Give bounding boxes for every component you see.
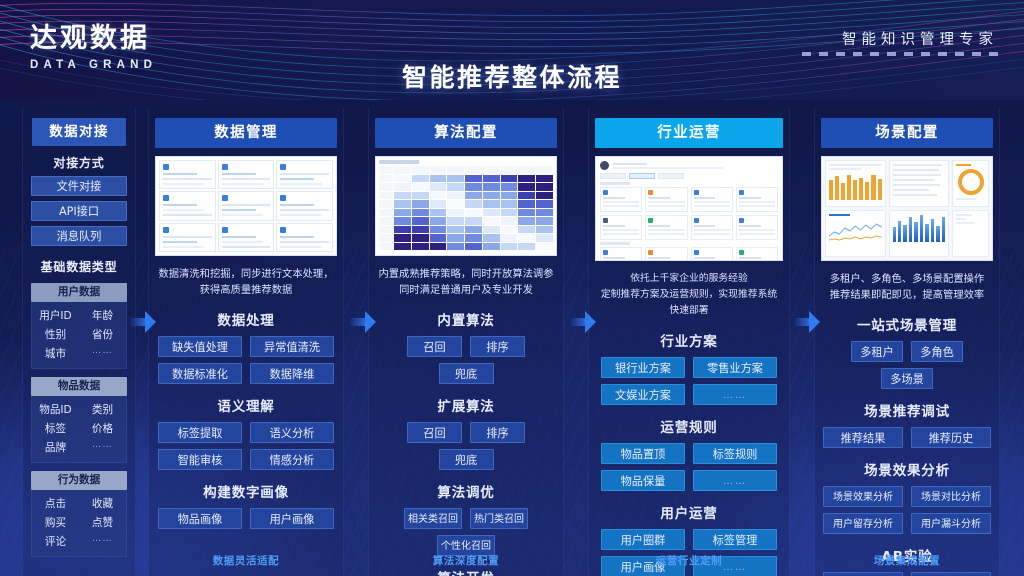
chip-fallback-builtin[interactable]: 兜底: [439, 363, 494, 384]
column-description-data-management: 数据清洗和挖掘，同步进行文本处理， 获得高质量推荐数据: [149, 266, 343, 298]
field-more-user: ……: [79, 346, 126, 361]
field-list-item-data: 物品ID 类别 标签 价格 品牌 ……: [31, 396, 127, 463]
chip-api[interactable]: API接口: [31, 201, 127, 221]
chip-item-profile[interactable]: 物品画像: [158, 508, 242, 529]
chip-rank-builtin[interactable]: 排序: [470, 336, 525, 357]
column-header-data-management: 数据管理: [155, 118, 337, 148]
section-label-algo-tuning: 算法调优: [369, 481, 563, 501]
column-algorithm-config[interactable]: 算法配置 内置成熟推荐策略，同时开放算法调参 同时满足普通用户及专业开发 内置算…: [368, 108, 564, 576]
chip-bank-solution[interactable]: 银行业方案: [601, 357, 685, 378]
field-favorite: 收藏: [79, 496, 126, 511]
field-more-item: ……: [79, 440, 126, 455]
chip-hot-recall[interactable]: 热门类召回: [470, 508, 528, 529]
chip-multi-role[interactable]: 多角色: [911, 341, 963, 362]
chip-retail-solution[interactable]: 零售业方案: [693, 357, 777, 378]
chip-sentiment[interactable]: 情感分析: [250, 449, 334, 470]
chip-group-profile: 物品画像 用户画像: [149, 508, 343, 529]
chip-scene-compare-analysis[interactable]: 场景对比分析: [911, 486, 991, 507]
chip-standardize[interactable]: 数据标准化: [158, 363, 242, 384]
field-like: 点赞: [79, 515, 126, 530]
column-header-industry-operation: 行业运营: [595, 118, 783, 148]
field-item-id: 物品ID: [32, 402, 79, 417]
header-tagline: 智能知识管理专家: [802, 28, 998, 56]
column-header-data-integration: 数据对接: [32, 118, 126, 146]
column-description-algorithm-config: 内置成熟推荐策略，同时开放算法调参 同时满足普通用户及专业开发: [369, 266, 563, 298]
chip-tag-extract[interactable]: 标签提取: [158, 422, 242, 443]
chip-fallback-extend[interactable]: 兜底: [439, 449, 494, 470]
thumb-card-grid: [156, 157, 336, 255]
chip-item-pin[interactable]: 物品置顶: [601, 443, 685, 464]
brand-name-cn: 达观数据: [30, 16, 157, 55]
field-brand: 品牌: [32, 440, 79, 455]
chip-more-industry-solution[interactable]: ……: [693, 384, 777, 405]
chip-rank-extend[interactable]: 排序: [470, 422, 525, 443]
field-list-behavior-data: 点击 收藏 购买 点赞 评论 ……: [31, 490, 127, 557]
section-label-data-processing: 数据处理: [149, 309, 343, 329]
chip-group-industry-solution: 银行业方案 零售业方案 文娱业方案 ……: [589, 357, 789, 405]
field-list-user-data: 用户ID 年龄 性别 省份 城市 ……: [31, 302, 127, 369]
header-tagline-text: 智能知识管理专家: [802, 28, 998, 49]
chip-recommend-result[interactable]: 推荐结果: [823, 427, 903, 448]
chip-entertainment-solution[interactable]: 文娱业方案: [601, 384, 685, 405]
chip-recall-extend[interactable]: 召回: [407, 422, 462, 443]
field-age: 年龄: [79, 308, 126, 323]
arrow-2: [350, 311, 376, 333]
section-label-operation-rules: 运营规则: [589, 416, 789, 436]
chip-recommend-history[interactable]: 推荐历史: [911, 427, 991, 448]
chip-tag-management[interactable]: 标签管理: [693, 529, 777, 550]
chip-more-operation-rules[interactable]: ……: [693, 470, 777, 491]
chip-file-connect[interactable]: 文件对接: [31, 176, 127, 196]
chip-group-data-processing: 缺失值处理 异常值清洗 数据标准化 数据降维: [149, 336, 343, 384]
line-chart-sparkline: [829, 218, 882, 244]
thumb-heatmap: [376, 157, 556, 255]
chip-multi-tenant[interactable]: 多租户: [851, 341, 903, 362]
chip-semantic-analysis[interactable]: 语义分析: [250, 422, 334, 443]
page-title: 智能推荐整体流程: [0, 58, 1024, 94]
thumb-industry-cards: [596, 157, 782, 260]
chip-group-semantic: 标签提取 语义分析 智能审核 情感分析: [149, 422, 343, 470]
screenshot-thumbnail-algorithm-config[interactable]: [375, 156, 557, 256]
chip-group-builtin-algo: 召回 排序 兜底: [369, 336, 563, 384]
chip-message-queue[interactable]: 消息队列: [31, 226, 127, 246]
section-label-industry-solution: 行业方案: [589, 330, 789, 350]
field-purchase: 购买: [32, 515, 79, 530]
field-tag: 标签: [32, 421, 79, 436]
heatmap-grid: [379, 166, 553, 250]
column-industry-operation[interactable]: 行业运营: [588, 108, 790, 576]
chip-user-funnel-analysis[interactable]: 用户漏斗分析: [911, 513, 991, 534]
chip-group-scene-debug: 推荐结果 推荐历史: [815, 427, 999, 448]
column-data-management[interactable]: 数据管理 数据清洗和挖掘，同步进行文本处理， 获得高质量推荐数据 数据处理 缺: [148, 108, 344, 576]
chip-outlier-clean[interactable]: 异常值清洗: [250, 336, 334, 357]
chip-item-quota[interactable]: 物品保量: [601, 470, 685, 491]
field-price: 价格: [79, 421, 126, 436]
field-gender: 性别: [32, 327, 79, 342]
column-footer-data-management: 数据灵活适配: [149, 553, 343, 568]
section-label-algo-dev: 算法开发: [369, 567, 563, 576]
group-header-user-data[interactable]: 用户数据: [31, 283, 127, 302]
column-footer-industry-operation: 运营行业定制: [589, 553, 789, 568]
column-data-integration[interactable]: 数据对接 对接方式 文件对接 API接口 消息队列 基础数据类型 用户数据 用户…: [22, 108, 136, 576]
arrow-4: [794, 311, 820, 333]
group-header-item-data[interactable]: 物品数据: [31, 377, 127, 396]
section-label-base-data-types: 基础数据类型: [23, 258, 135, 275]
arrow-1: [130, 311, 156, 333]
column-footer-algorithm-config: 算法深度配置: [369, 553, 563, 568]
chip-user-retention-analysis[interactable]: 用户留存分析: [823, 513, 903, 534]
chip-experiment-report[interactable]: 实验报告: [911, 572, 991, 576]
chip-smart-review[interactable]: 智能审核: [158, 449, 242, 470]
field-city: 城市: [32, 346, 79, 361]
screenshot-thumbnail-scene-config[interactable]: [821, 156, 993, 261]
tagline-dash-rule: [802, 52, 998, 56]
screenshot-thumbnail-industry-operation[interactable]: [595, 156, 783, 261]
chip-group-scene-effect: 场景效果分析 场景对比分析 用户留存分析 用户漏斗分析: [815, 486, 999, 534]
column-header-scene-config: 场景配置: [821, 118, 993, 148]
section-label-extend-algo: 扩展算法: [369, 395, 563, 415]
chip-recall-builtin[interactable]: 召回: [407, 336, 462, 357]
chip-user-group[interactable]: 用户圈群: [601, 529, 685, 550]
section-label-profile: 构建数字画像: [149, 481, 343, 501]
column-description-industry-operation: 依托上千家企业的服务经验 定制推荐方案及运营规则，实现推荐系统快速部署: [589, 271, 789, 319]
field-click: 点击: [32, 496, 79, 511]
column-footer-scene-config: 场景集成配置: [815, 553, 999, 568]
field-province: 省份: [79, 327, 126, 342]
field-more-behavior: ……: [79, 534, 126, 549]
chip-user-profile[interactable]: 用户画像: [250, 508, 334, 529]
chip-group-ab-test: 实验分群 实验报告: [815, 572, 999, 576]
group-header-behavior-data[interactable]: 行为数据: [31, 471, 127, 490]
chip-group-scene-management: 多租户 多角色 多场景: [815, 341, 999, 389]
chip-experiment-group[interactable]: 实验分群: [823, 572, 903, 576]
chip-group-extend-algo: 召回 排序 兜底: [369, 422, 563, 470]
chip-missing-value[interactable]: 缺失值处理: [158, 336, 242, 357]
chip-dim-reduction[interactable]: 数据降维: [250, 363, 334, 384]
chip-group-algo-tuning: 相关类召回 热门类召回 个性化召回: [369, 508, 563, 556]
chip-group-operation-rules: 物品置顶 标签规则 物品保量 ……: [589, 443, 789, 491]
chip-group-connect-method: 文件对接 API接口 消息队列: [23, 176, 135, 246]
chip-related-recall[interactable]: 相关类召回: [404, 508, 462, 529]
section-label-scene-effect: 场景效果分析: [815, 459, 999, 479]
field-category: 类别: [79, 402, 126, 417]
section-label-user-operation: 用户运营: [589, 502, 789, 522]
chip-multi-scene[interactable]: 多场景: [881, 368, 933, 389]
pipeline-columns: 数据对接 对接方式 文件对接 API接口 消息队列 基础数据类型 用户数据 用户…: [0, 108, 1024, 576]
arrow-3: [570, 311, 596, 333]
section-label-scene-debug: 场景推荐调试: [815, 400, 999, 420]
field-user-id: 用户ID: [32, 308, 79, 323]
slide-canvas: 达观数据 DATA GRAND 智能知识管理专家 智能推荐整体流程 数据对接 对…: [0, 0, 1024, 576]
column-scene-config[interactable]: 场景配置: [814, 108, 1000, 576]
chip-scene-effect-analysis[interactable]: 场景效果分析: [823, 486, 903, 507]
section-label-scene-management: 一站式场景管理: [815, 314, 999, 334]
column-header-algorithm-config: 算法配置: [375, 118, 557, 148]
section-label-builtin-algo: 内置算法: [369, 309, 563, 329]
chip-tag-rule[interactable]: 标签规则: [693, 443, 777, 464]
field-comment: 评论: [32, 534, 79, 549]
section-label-semantic: 语义理解: [149, 395, 343, 415]
section-label-connect-method: 对接方式: [23, 154, 135, 171]
thumb-dashboard: [822, 157, 992, 260]
screenshot-thumbnail-data-management[interactable]: [155, 156, 337, 256]
column-description-scene-config: 多租户、多角色、多场景配置操作 推荐结果即配即见，提高管理效率: [815, 271, 999, 303]
